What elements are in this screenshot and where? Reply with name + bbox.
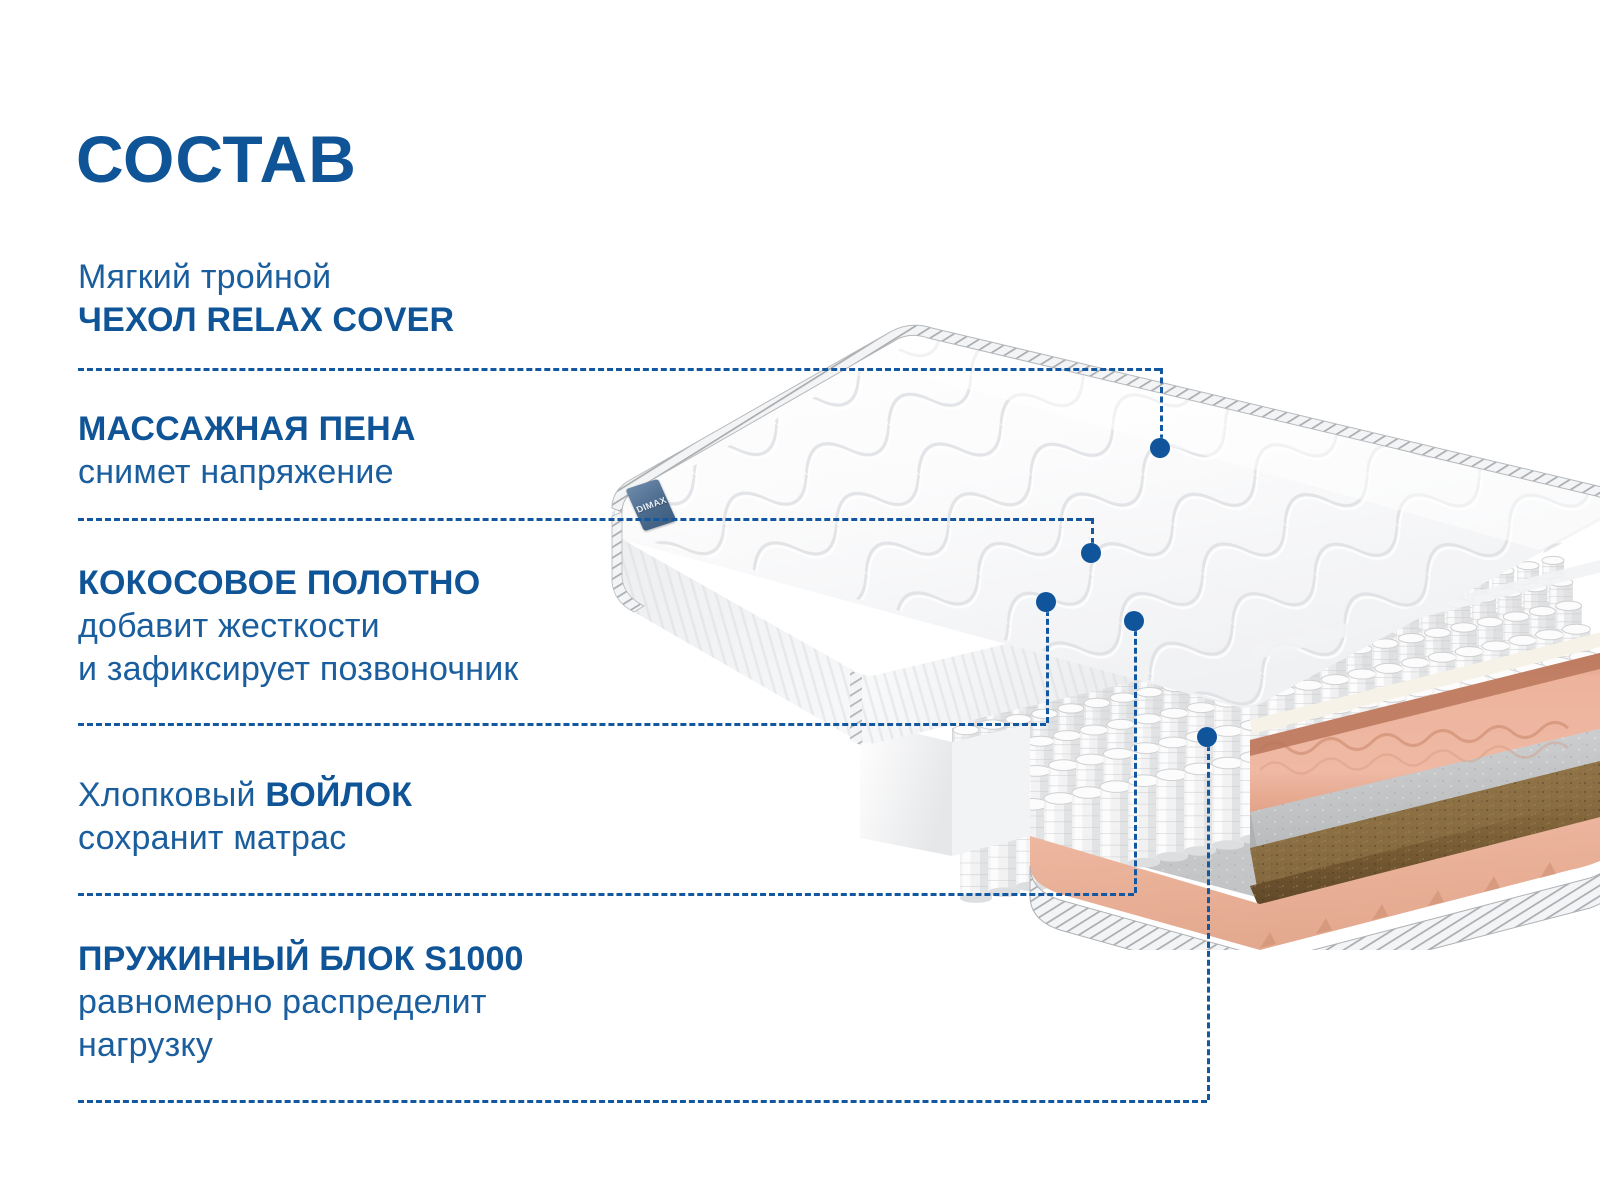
coconut-line3: и зафиксирует позвоночник — [78, 648, 519, 691]
callout-dot-coconut — [1036, 592, 1056, 612]
spring-line1: ПРУЖИННЫЙ БЛОК S1000 — [78, 938, 524, 981]
connector-line-coconut — [78, 723, 1046, 726]
connector-riser-spring-block — [1207, 745, 1210, 1100]
connector-line-relax-cover — [78, 368, 1160, 371]
layer-label-relax-cover: Мягкий тройной ЧЕХОЛ RELAX COVER — [78, 256, 454, 342]
felt-line1: Хлопковый ВОЙЛОК — [78, 774, 412, 817]
connector-riser-felt — [1134, 630, 1137, 893]
spring-line2: равномерно распределит — [78, 981, 524, 1024]
spring-line3: нагрузку — [78, 1024, 524, 1067]
felt-line1-strong: ВОЙЛОК — [265, 776, 412, 814]
connector-line-spring-block — [78, 1100, 1207, 1103]
connector-line-massage-foam — [78, 518, 1091, 521]
page-title: СОСТАВ — [76, 126, 357, 192]
relax-cover-line2: ЧЕХОЛ RELAX COVER — [78, 299, 454, 342]
layer-label-cotton-felt: Хлопковый ВОЙЛОК сохранит матрас — [78, 774, 412, 860]
felt-line2: сохранит матрас — [78, 817, 412, 860]
mattress-illustration — [560, 250, 1600, 950]
massage-foam-line2: снимет напряжение — [78, 451, 416, 494]
layer-label-coconut-fabric: КОКОСОВОЕ ПОЛОТНО добавит жесткости и за… — [78, 562, 519, 690]
coconut-line2: добавит жесткости — [78, 605, 519, 648]
layer-label-spring-block: ПРУЖИННЫЙ БЛОК S1000 равномерно распреде… — [78, 938, 524, 1066]
callout-dot-relax-cover — [1150, 438, 1170, 458]
connector-line-felt — [78, 893, 1134, 896]
relax-cover-line1: Мягкий тройной — [78, 256, 454, 299]
layer-label-massage-foam: МАССАЖНАЯ ПЕНА снимет напряжение — [78, 408, 416, 494]
felt-line1-pre: Хлопковый — [78, 776, 265, 814]
infographic-canvas: СОСТАВ Мягкий тройной ЧЕХОЛ RELAX COVER … — [0, 0, 1600, 1200]
connector-riser-coconut — [1046, 610, 1049, 723]
callout-dot-spring-block — [1197, 727, 1217, 747]
massage-foam-line1: МАССАЖНАЯ ПЕНА — [78, 408, 416, 451]
brand-label-text: DIMAX — [634, 495, 668, 515]
coconut-line1: КОКОСОВОЕ ПОЛОТНО — [78, 562, 519, 605]
callout-dot-massage-foam — [1081, 543, 1101, 563]
foam-side-box-face — [952, 724, 1030, 856]
callout-dot-felt — [1124, 611, 1144, 631]
